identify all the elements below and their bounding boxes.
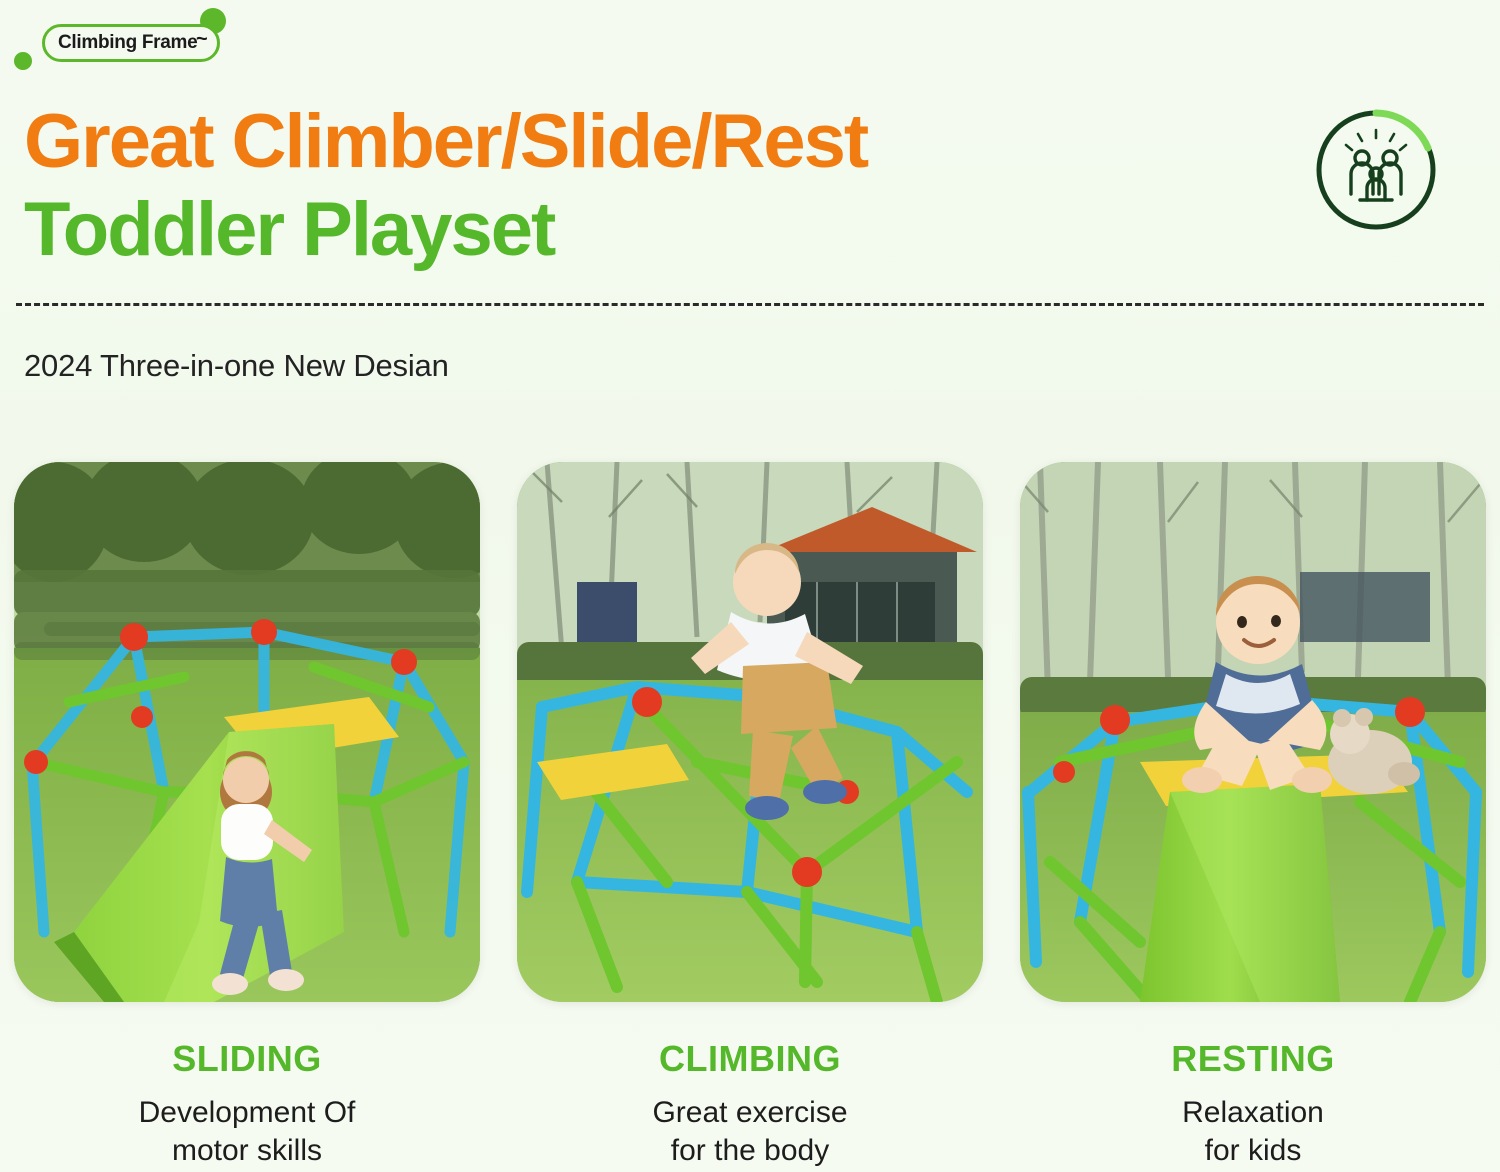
brand-tilde-icon: ~ bbox=[196, 28, 208, 51]
card-body-resting: Relaxation for kids bbox=[1020, 1094, 1486, 1169]
feature-card-climbing: CLIMBING Great exercise for the body bbox=[517, 462, 983, 1169]
dashed-divider bbox=[16, 303, 1484, 306]
card-body-sliding: Development Of motor skills bbox=[14, 1094, 480, 1169]
headline-secondary: Toddler Playset bbox=[24, 192, 1284, 268]
photo-sliding bbox=[14, 462, 480, 1002]
feature-card-resting: RESTING Relaxation for kids bbox=[1020, 462, 1486, 1169]
feature-cards: SLIDING Development Of motor skills bbox=[14, 462, 1486, 1169]
page-title: Great Climber/Slide/Rest Toddler Playset bbox=[24, 104, 1284, 268]
brand-badge: Climbing Frame ~ bbox=[14, 8, 226, 72]
card-title-sliding: SLIDING bbox=[14, 1038, 480, 1080]
headline-primary: Great Climber/Slide/Rest bbox=[24, 104, 1284, 180]
brand-dot-small-icon bbox=[14, 52, 32, 70]
card-title-climbing: CLIMBING bbox=[517, 1038, 983, 1080]
family-kids-icon bbox=[1314, 108, 1438, 232]
subtitle: 2024 Three-in-one New Desian bbox=[24, 348, 449, 384]
card-body-climbing: Great exercise for the body bbox=[517, 1094, 983, 1169]
feature-card-sliding: SLIDING Development Of motor skills bbox=[14, 462, 480, 1169]
photo-resting bbox=[1020, 462, 1486, 1002]
photo-climbing bbox=[517, 462, 983, 1002]
brand-name: Climbing Frame bbox=[58, 32, 197, 54]
card-title-resting: RESTING bbox=[1020, 1038, 1486, 1080]
